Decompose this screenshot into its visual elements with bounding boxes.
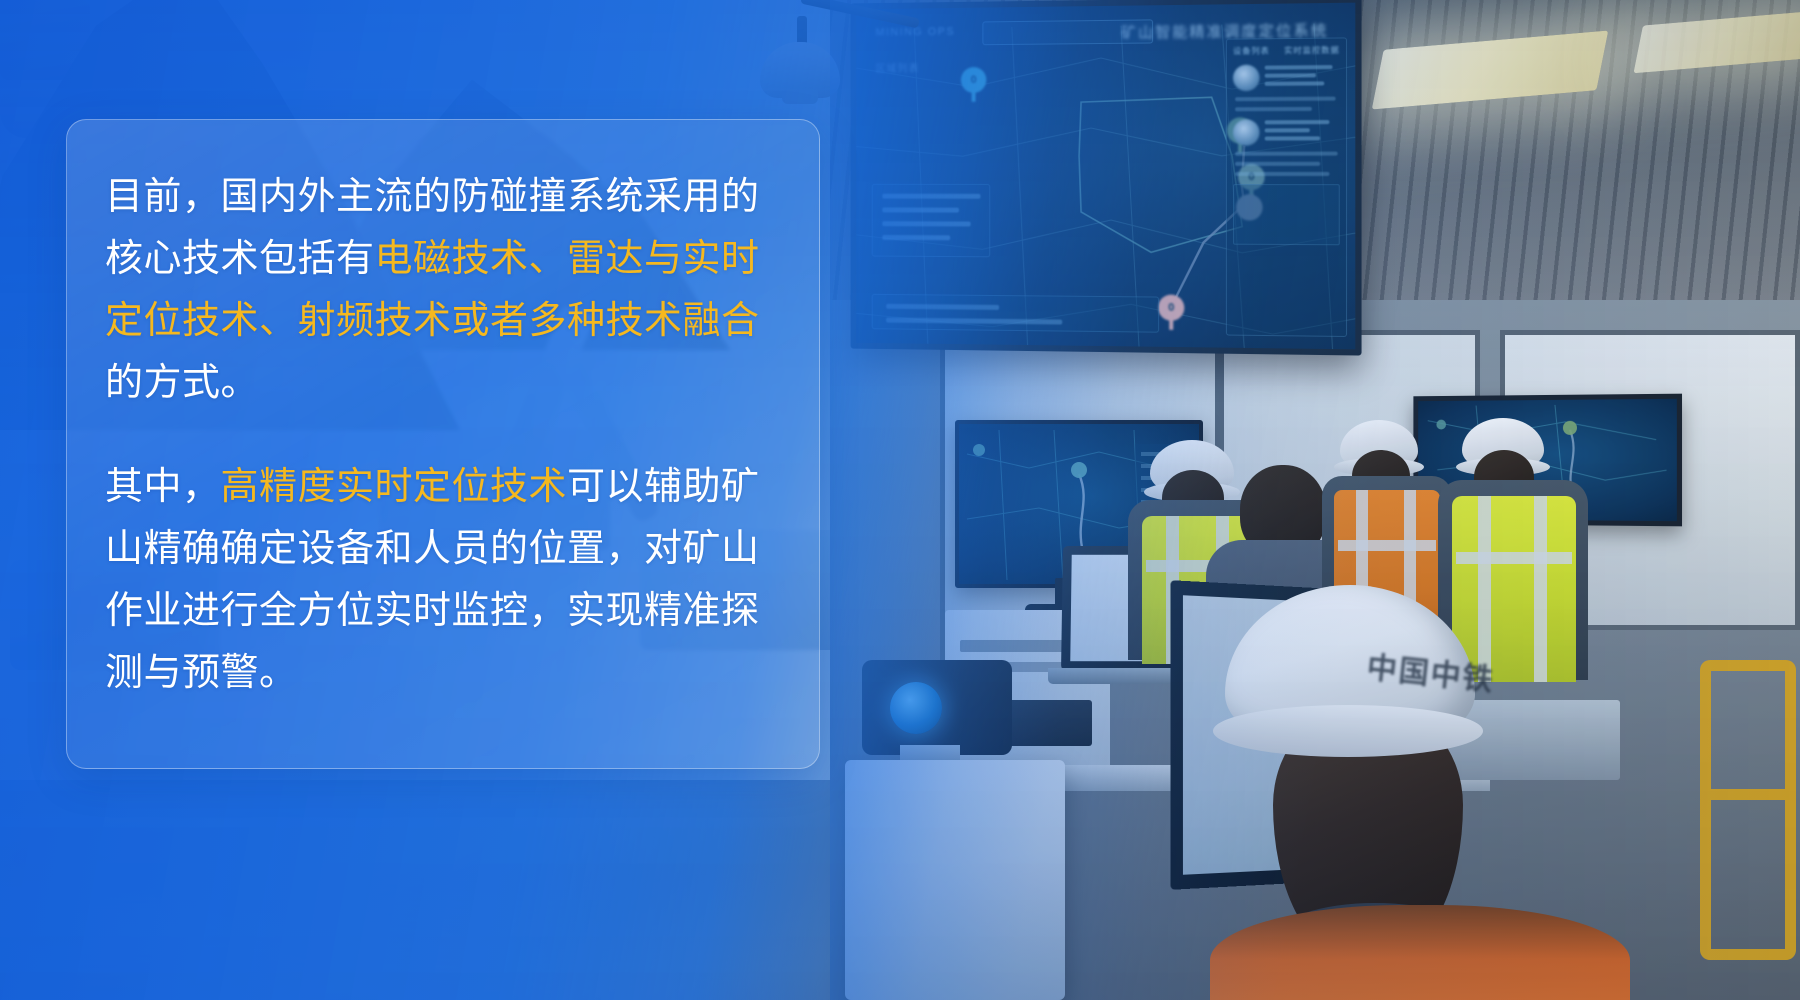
paragraph-1: 目前，国内外主流的防碰撞系统采用的核心技术包括有电磁技术、雷达与实时定位技术、射…: [105, 166, 785, 414]
paragraph-2-segment-2-highlight: 高精度实时定位技术: [221, 466, 568, 508]
text-card-body: 目前，国内外主流的防碰撞系统采用的核心技术包括有电磁技术、雷达与实时定位技术、射…: [105, 166, 785, 704]
scene-root: MINING OPS 矿山智能精准调度定位系统 区域列表 0 0 0 0: [0, 0, 1800, 1000]
paragraph-2: 其中，高精度实时定位技术可以辅助矿山精确确定设备和人员的位置，对矿山作业进行全方…: [105, 456, 785, 704]
paragraph-1-segment-3: 的方式。: [105, 362, 259, 404]
text-card: 目前，国内外主流的防碰撞系统采用的核心技术包括有电磁技术、雷达与实时定位技术、射…: [66, 119, 820, 769]
paragraph-2-segment-1: 其中，: [105, 466, 221, 508]
